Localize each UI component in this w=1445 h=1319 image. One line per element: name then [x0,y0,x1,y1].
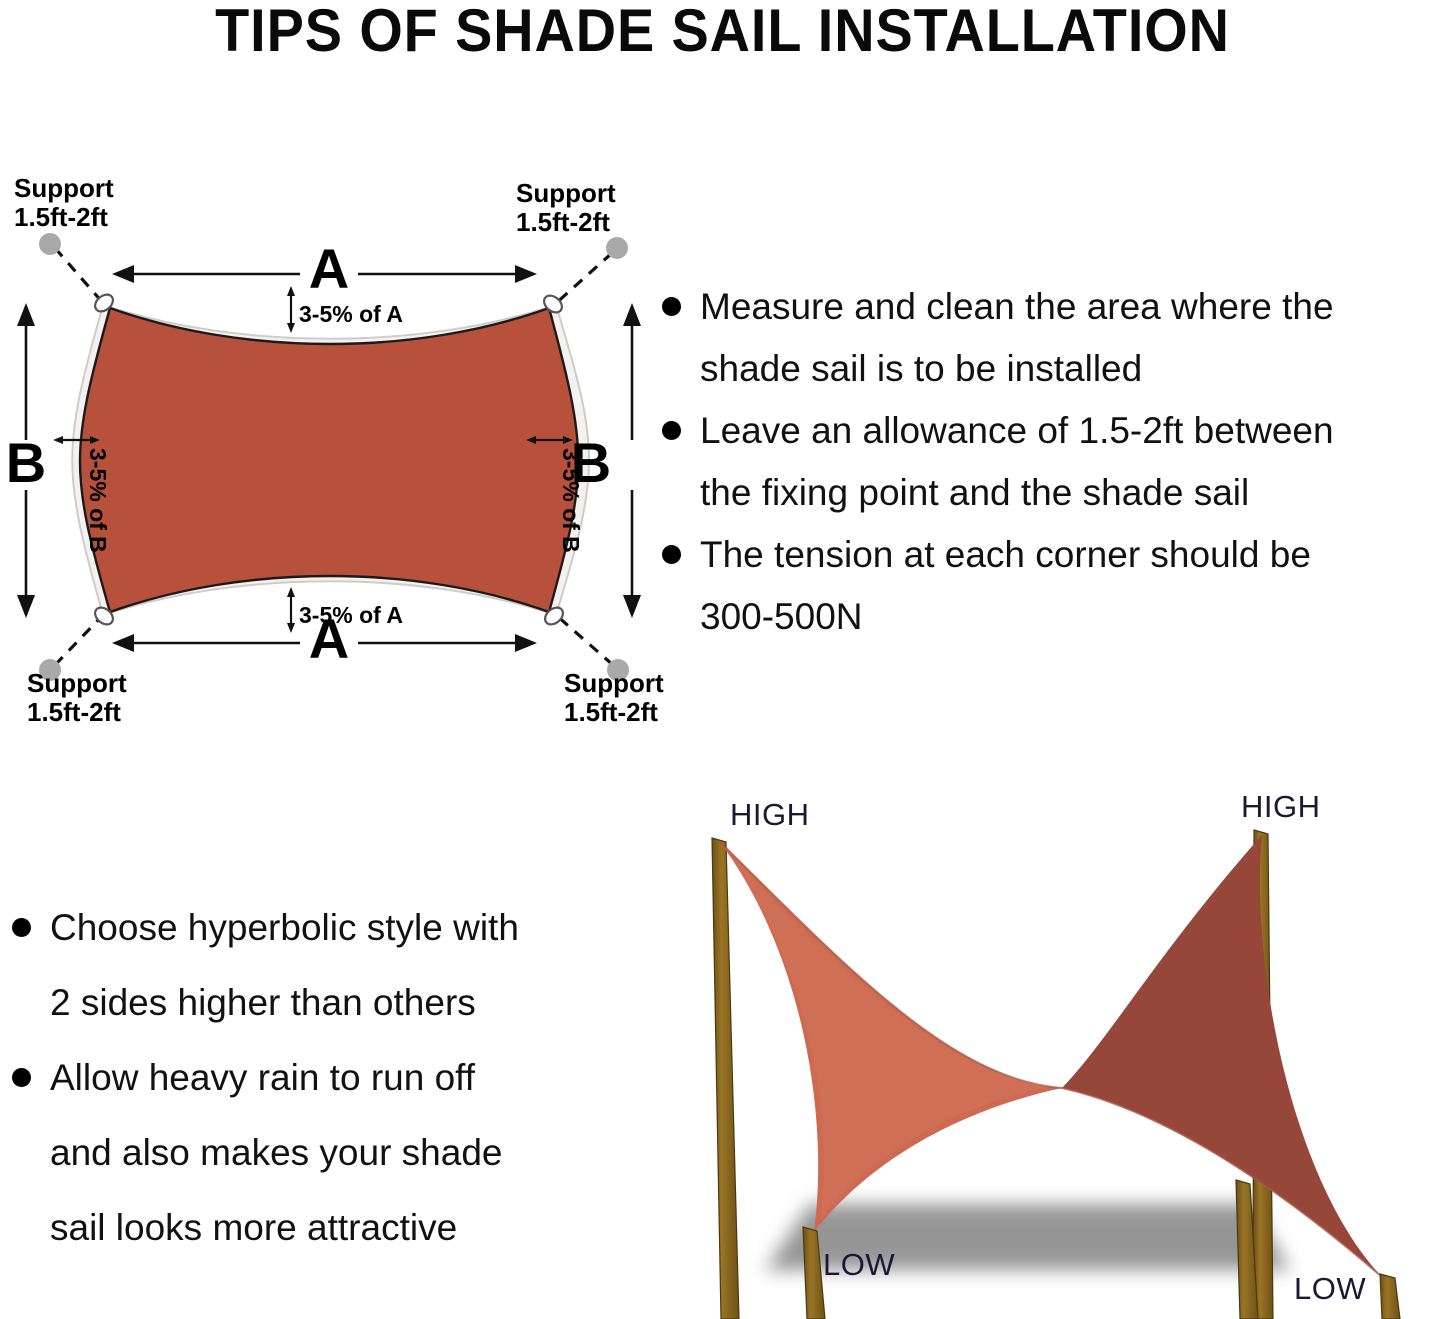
tether-top-left [55,248,103,303]
tip-line: the fixing point and the shade sail [700,472,1249,513]
list-item: The tension at each corner should be 300… [654,524,1445,648]
tip-line: 2 sides higher than others [50,982,476,1023]
tip-line: The tension at each corner should be [700,534,1311,575]
curve-a-bottom-label: 3-5% of A [299,602,403,628]
label-low-left: LOW [823,1247,895,1282]
dim-b-left-label: B [6,431,46,494]
curve-a-top-tick [287,286,295,333]
page-title: TIPS OF SHADE SAIL INSTALLATION [51,0,1395,66]
tip-line: sail looks more attractive [50,1207,457,1248]
arrow-head-down [623,595,641,618]
bullet-dot-icon [662,545,681,564]
tip-line: Measure and clean the area where the [700,286,1334,327]
tip-line: Choose hyperbolic style with [50,907,519,948]
curve-a-bottom-tick [287,587,295,633]
arrow-head-up [623,303,641,326]
support-bottom-right-line1: Support [564,668,664,698]
arrow-head-right [515,634,537,652]
arrow-head-left [112,634,134,652]
label-high-right: HIGH [1241,789,1321,824]
tips-list-right: Measure and clean the area where the sha… [654,276,1445,648]
rectangular-sail-diagram: A 3-5% of A A 3-5% of A B 3-5% of B [0,160,680,730]
pole-high-left [712,838,739,1319]
tips-list-left: Choose hyperbolic style with 2 sides hig… [4,890,624,1265]
tether-bottom-left [55,615,103,665]
support-bottom-left-line1: Support [27,668,127,698]
support-top-left-line2: 1.5ft-2ft [14,202,108,232]
sail-highlight [724,848,1052,1220]
list-item: Allow heavy rain to run off and also mak… [4,1040,624,1265]
curve-a-top-label: 3-5% of A [299,301,403,327]
bullet-dot-icon [662,297,681,316]
curve-b-left-label: 3-5% of B [85,448,111,553]
dim-a-top-label: A [309,237,349,300]
bullet-dot-icon [662,421,681,440]
dimension-b-right [623,303,641,618]
arrow-head-down [17,595,35,618]
tip-line: Leave an allowance of 1.5-2ft between [700,410,1334,451]
arrow-head-left [112,265,134,283]
list-item: Leave an allowance of 1.5-2ft between th… [654,400,1445,524]
tip-line: and also makes your shade [50,1132,503,1173]
sail-fabric [80,308,578,612]
support-top-right-line2: 1.5ft-2ft [516,207,610,237]
support-dot-top-left [39,233,61,255]
list-item: Measure and clean the area where the sha… [654,276,1445,400]
tether-top-right [554,253,612,305]
label-low-right: LOW [1294,1271,1366,1306]
curve-b-right-label: 3-5% of B [558,448,584,553]
support-top-left-line1: Support [14,173,114,203]
pole-low-right [1380,1274,1400,1319]
tether-bottom-right [556,615,613,665]
label-high-left: HIGH [730,797,810,832]
support-top-right-line1: Support [516,178,616,208]
list-item: Choose hyperbolic style with 2 sides hig… [4,890,624,1040]
tip-line: Allow heavy rain to run off [50,1057,475,1098]
support-bottom-left-line2: 1.5ft-2ft [27,697,121,727]
hyperbolic-sail-diagram: HIGH HIGH LOW LOW [690,780,1445,1319]
bullet-dot-icon [12,1068,31,1087]
tip-line: shade sail is to be installed [700,348,1142,389]
arrow-head-up [17,303,35,326]
support-dot-top-right [606,237,628,259]
bullet-dot-icon [12,918,31,937]
arrow-head-right [515,265,537,283]
tip-line: 300-500N [700,596,863,637]
support-bottom-right-line2: 1.5ft-2ft [564,697,658,727]
